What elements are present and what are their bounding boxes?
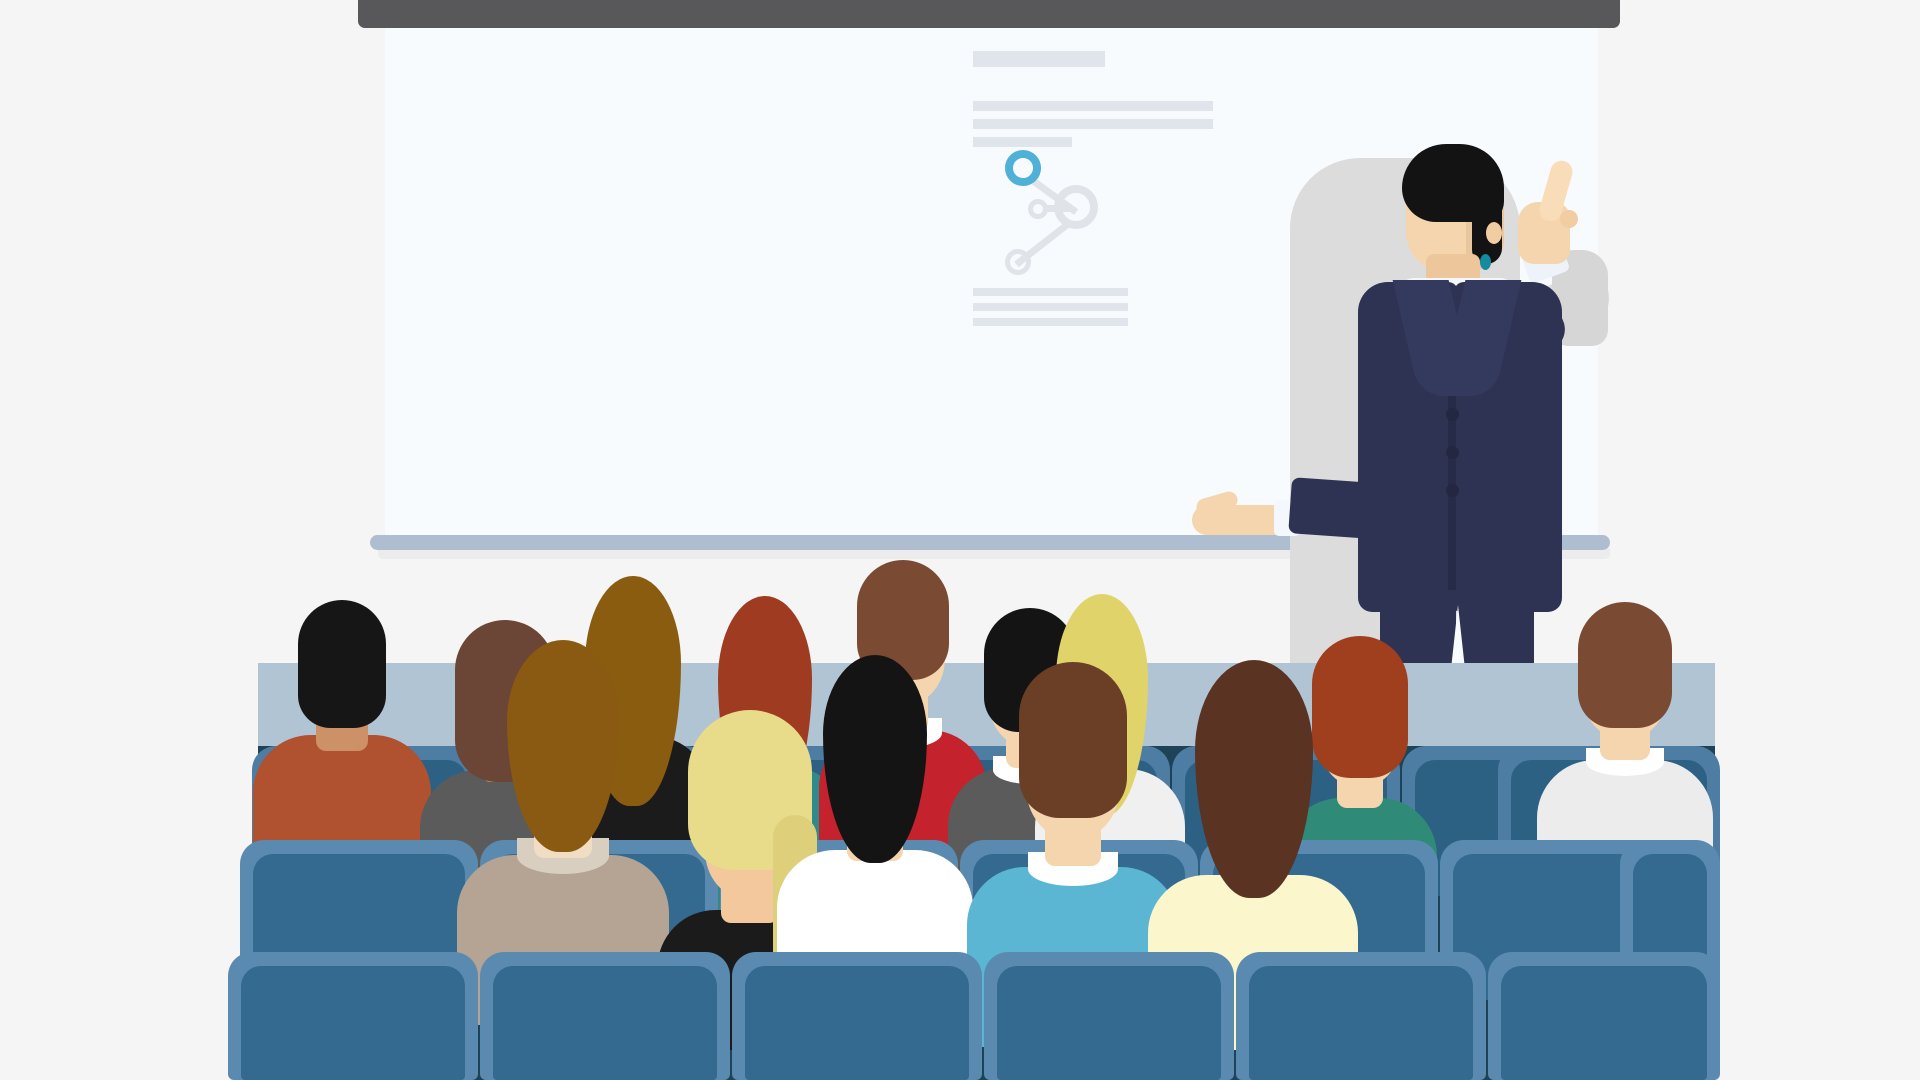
presenter-button-2 [1446,446,1459,459]
seat-front-3 [732,952,982,1080]
presenter-button-1 [1446,408,1459,421]
audience-member-1-hair [298,600,386,728]
presenter-earring [1480,254,1491,270]
seat-front-6 [1488,952,1720,1080]
network-node-diagram [0,0,1200,360]
seat-front-2 [480,952,730,1080]
node-ring-lower [1005,249,1031,275]
audience-member-9-hair [1019,662,1127,818]
node-ring-small [1028,199,1048,219]
presenter-knuckle [1560,210,1578,228]
presenter-button-3 [1446,484,1459,497]
audience-member-14-hair [1578,602,1672,728]
seat-front-5 [1236,952,1486,1080]
audience-member-7-hair [823,655,927,863]
presentation-scene [0,0,1920,1080]
node-ring-hub [1054,185,1098,229]
seat-front-1 [228,952,478,1080]
presenter-jacket-front-gap [1448,396,1456,614]
node-ring-accent [1005,150,1041,186]
audience-member-3-hair [507,640,619,852]
presenter-ear [1486,222,1502,244]
seat-front-4 [984,952,1234,1080]
audience-member-13-hair [1195,660,1313,898]
